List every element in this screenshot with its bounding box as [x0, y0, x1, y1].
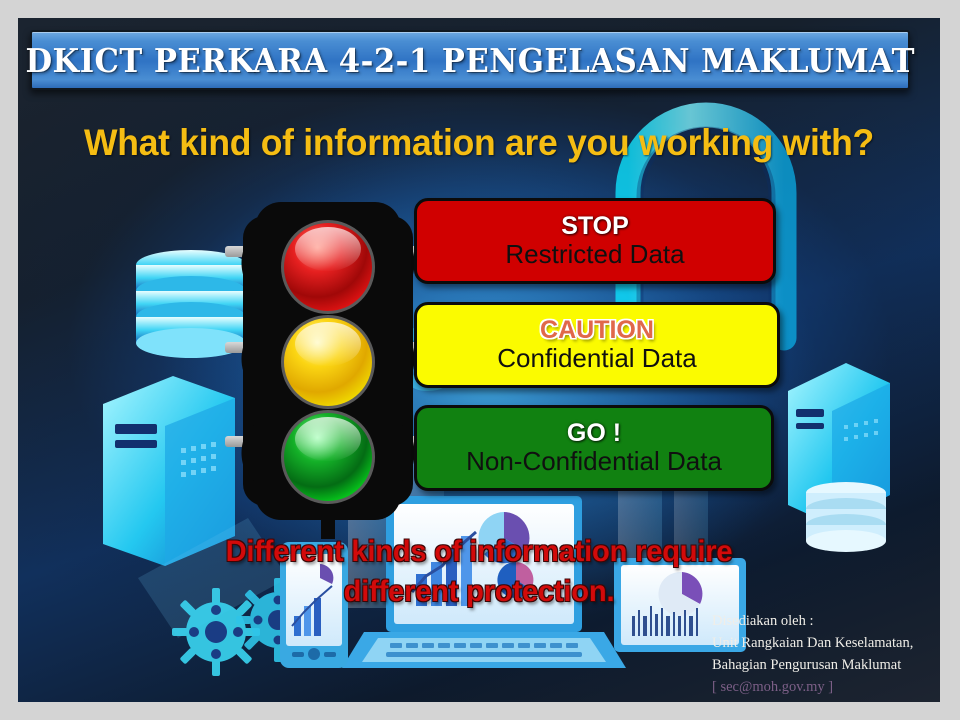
slide-page: e DKICT PERKARA 4-2-1 PENGELASAN MAKLUMA… — [0, 0, 960, 720]
slide-title-bar: DKICT PERKARA 4-2-1 PENGELASAN MAKLUMAT — [30, 30, 910, 90]
card-caution: CAUTION Confidential Data — [414, 302, 780, 388]
card-go-head: GO ! — [567, 420, 621, 446]
card-stop: STOP Restricted Data — [414, 198, 776, 284]
slogan-line-2: different protection. — [32, 572, 926, 612]
headline-question: What kind of information are you working… — [36, 122, 921, 164]
card-stop-sub: Restricted Data — [505, 240, 684, 269]
credit-email: [ sec@moh.gov.my ] — [712, 676, 940, 698]
card-caution-head: CAUTION — [540, 317, 654, 343]
card-stop-head: STOP — [561, 213, 629, 239]
card-go: GO ! Non-Confidential Data — [414, 405, 774, 491]
card-go-sub: Non-Confidential Data — [466, 447, 722, 476]
card-caution-sub: Confidential Data — [497, 344, 696, 373]
green-lamp — [281, 410, 375, 504]
yellow-lamp — [281, 315, 375, 409]
credit-block: Disediakan oleh : Unit Rangkaian Dan Kes… — [712, 610, 940, 698]
slogan-line-1: Different kinds of information require — [32, 532, 926, 572]
traffic-light-graphic — [223, 194, 433, 539]
credit-line-1: Disediakan oleh : — [712, 610, 940, 632]
presentation-slide: e DKICT PERKARA 4-2-1 PENGELASAN MAKLUMA… — [18, 18, 940, 702]
red-lamp — [281, 220, 375, 314]
server-stack-icon — [788, 363, 890, 552]
slide-title: DKICT PERKARA 4-2-1 PENGELASAN MAKLUMAT — [25, 41, 914, 80]
credit-line-3: Bahagian Pengurusan Maklumat — [712, 654, 940, 676]
credit-line-2: Unit Rangkaian Dan Keselamatan, — [712, 632, 940, 654]
slogan-text: Different kinds of information require d… — [32, 532, 926, 611]
